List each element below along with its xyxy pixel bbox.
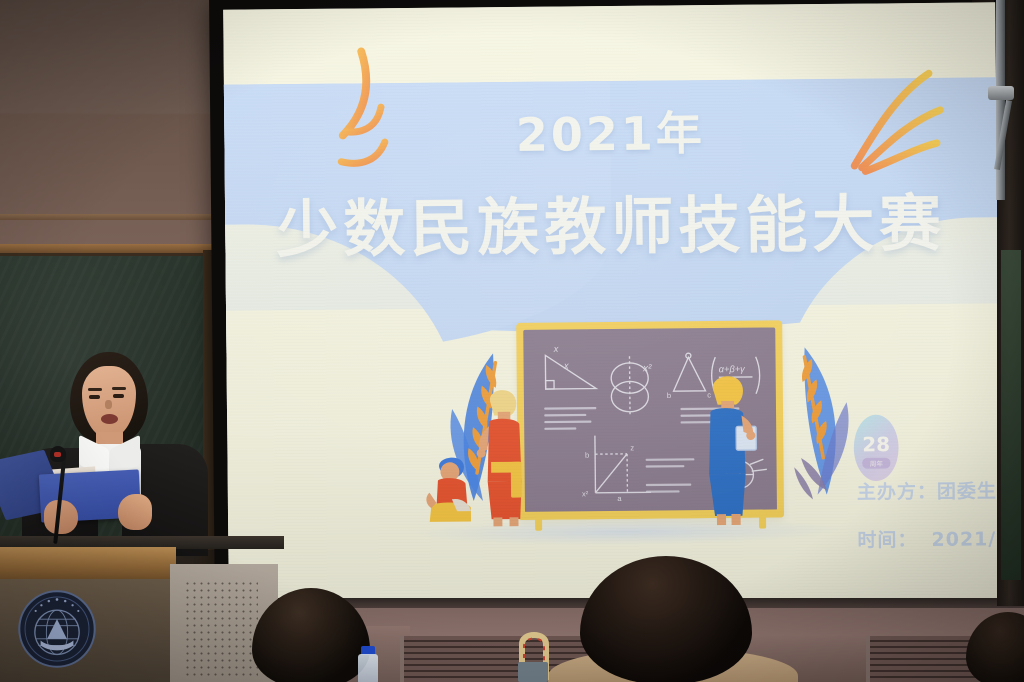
illustration-seated-child <box>424 454 479 532</box>
presenter-at-podium <box>0 352 210 552</box>
anniversary-badge-watermark: 28 周年 <box>849 411 905 486</box>
slide-title-year: 2021年 <box>224 95 997 168</box>
patterned-bag <box>512 622 556 682</box>
illustration-teacher-red <box>474 385 537 529</box>
right-window-glass <box>1001 250 1021 580</box>
projection-screen: 2021年 少数民族教师技能大赛 <box>223 2 1001 605</box>
svg-text:x²: x² <box>642 363 652 374</box>
water-bottle <box>358 646 378 682</box>
equipment-pole-clamp <box>988 86 1014 100</box>
water-bottle-body <box>358 654 378 682</box>
screenshot-root: 2021年 少数民族教师技能大赛 <box>0 0 1024 682</box>
microphone-indicator <box>54 452 61 457</box>
presenter-eye-left <box>89 395 100 399</box>
lectern-desk <box>0 547 176 581</box>
slide-time-value: 2021/4/23 <box>931 527 1000 550</box>
presenter-brow-left <box>88 388 102 391</box>
svg-text:b: b <box>666 391 670 400</box>
svg-text:z: z <box>630 443 634 452</box>
presenter-brow-right <box>112 387 126 390</box>
presenter-mouth <box>101 414 118 424</box>
back-wall <box>0 0 232 250</box>
svg-text:x²: x² <box>581 489 588 498</box>
lectern <box>0 536 284 682</box>
presenter-nose <box>105 400 112 409</box>
badge-sub-text: 周年 <box>870 459 884 468</box>
illustration-teacher-blue <box>694 371 761 527</box>
svg-text:a: a <box>617 494 622 503</box>
svg-text:b: b <box>584 450 588 459</box>
slide-time-row: 时间：2021/4/23 <box>857 523 1001 552</box>
svg-text:x: x <box>562 360 568 370</box>
wall-trim <box>0 214 232 220</box>
presenter-hand-right <box>118 494 152 530</box>
slide-organizer-text: 主办方：团委生活服务中 <box>857 475 1001 504</box>
svg-text:x: x <box>552 344 558 354</box>
presentation-slide: 2021年 少数民族教师技能大赛 <box>223 2 1001 605</box>
slide-time-label: 时间： <box>857 529 917 552</box>
university-emblem <box>16 588 98 670</box>
presenter-eye-right <box>113 394 124 398</box>
slide-title-main: 少数民族教师技能大赛 <box>225 172 998 269</box>
equipment-pole <box>996 0 1005 200</box>
badge-number-text: 28 <box>863 433 891 456</box>
